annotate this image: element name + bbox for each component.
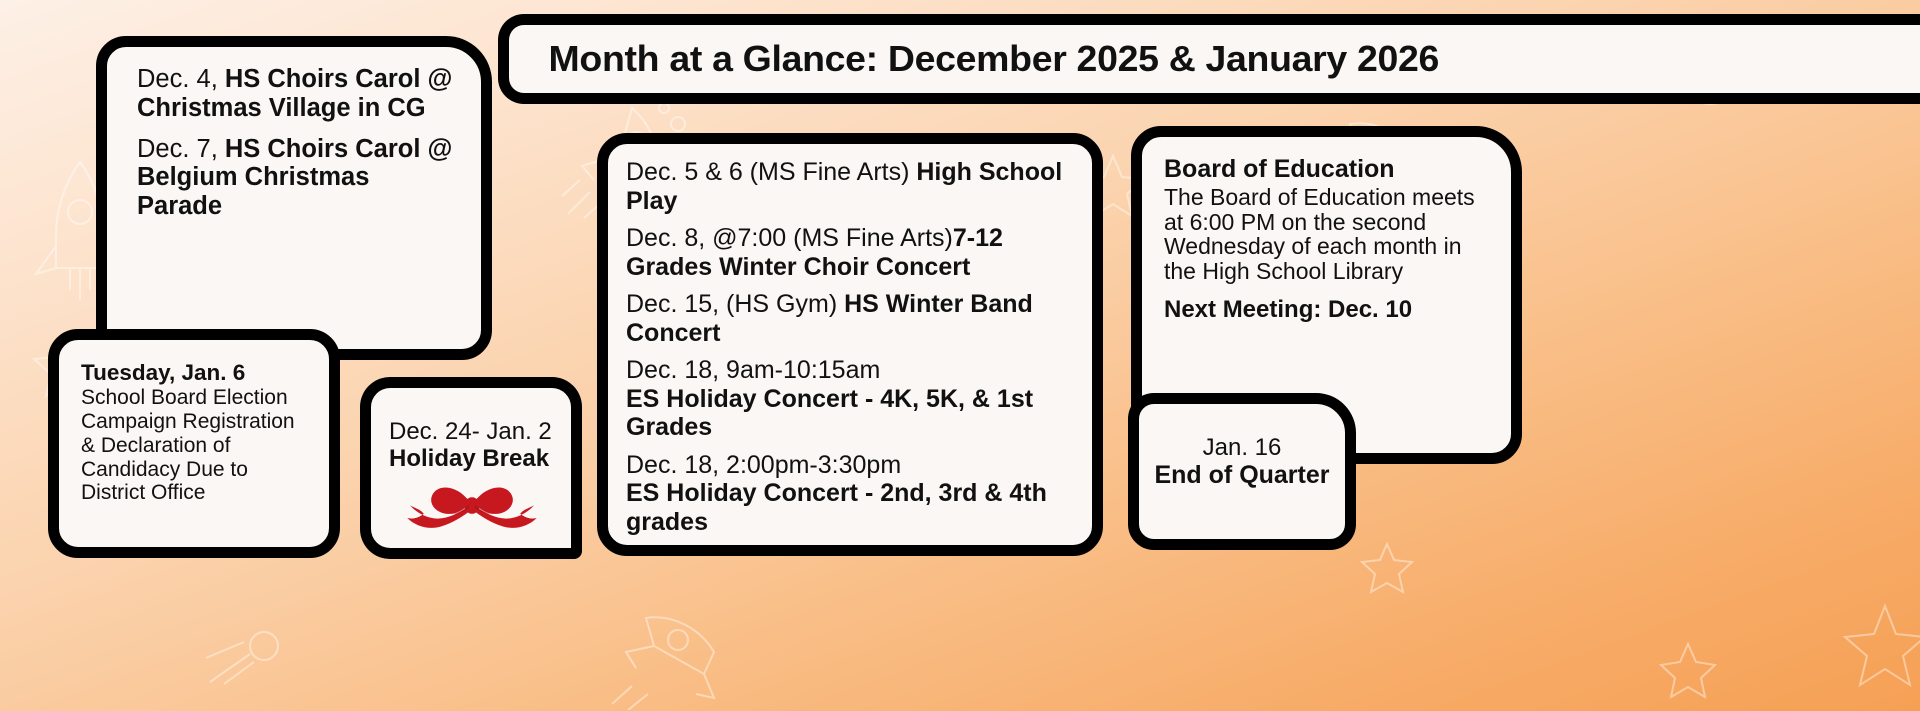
event-entry-4: Dec. 18, 9am-10:15amES Holiday Concert -…	[626, 356, 1076, 442]
choir-entry-1-date: Dec. 4,	[137, 65, 225, 93]
event-entry-5-event: ES Holiday Concert - 2nd, 3rd & 4th grad…	[626, 479, 1076, 536]
event-entry-2-date: Dec. 8, @7:00 (MS Fine Arts)	[626, 224, 953, 252]
boe-next-meeting: Next Meeting: Dec. 10	[1164, 296, 1491, 323]
event-entry-4-date: Dec. 18, 9am-10:15am	[626, 356, 1076, 385]
boe-heading: Board of Education	[1164, 155, 1491, 183]
choir-entry-2-date: Dec. 7,	[137, 135, 225, 163]
page-title: Month at a Glance: December 2025 & Janua…	[509, 39, 1439, 80]
star-doodle-icon	[1840, 600, 1920, 690]
election-body: School Board Election Campaign Registrat…	[81, 386, 311, 505]
star-doodle-icon	[1360, 540, 1415, 595]
hs-choirs-card: Dec. 4, HS Choirs Carol @ Christmas Vill…	[96, 36, 492, 360]
red-bow-icon	[401, 478, 543, 540]
boe-body: The Board of Education meets at 6:00 PM …	[1164, 185, 1491, 283]
poster-canvas: Month at a Glance: December 2025 & Janua…	[0, 0, 1920, 711]
event-entry-3: Dec. 15, (HS Gym) HS Winter Band Concert	[626, 290, 1076, 347]
event-entry-3-date: Dec. 15, (HS Gym)	[626, 290, 844, 318]
holiday-break-card: Dec. 24- Jan. 2 Holiday Break	[360, 377, 582, 559]
event-entry-4-event: ES Holiday Concert - 4K, 5K, & 1st Grade…	[626, 385, 1076, 442]
end-of-quarter-card: Jan. 16 End of Quarter	[1128, 393, 1356, 550]
holiday-break-label: Holiday Break	[389, 445, 555, 472]
comet-doodle-icon	[200, 620, 290, 690]
event-entry-5-date: Dec. 18, 2:00pm-3:30pm	[626, 451, 1076, 480]
quarter-date: Jan. 16	[1151, 434, 1333, 461]
event-entry-5: Dec. 18, 2:00pm-3:30pmES Holiday Concert…	[626, 451, 1076, 537]
holiday-break-date: Dec. 24- Jan. 2	[389, 418, 555, 445]
rocket-doodle-icon	[606, 600, 736, 710]
school-board-election-card: Tuesday, Jan. 6 School Board Election Ca…	[48, 329, 340, 558]
choir-entry-2: Dec. 7, HS Choirs Carol @ Belgium Christ…	[137, 135, 459, 221]
election-heading: Tuesday, Jan. 6	[81, 360, 311, 385]
quarter-label: End of Quarter	[1151, 461, 1333, 489]
fine-arts-events-card: Dec. 5 & 6 (MS Fine Arts) High School Pl…	[597, 133, 1103, 556]
event-entry-1-date: Dec. 5 & 6 (MS Fine Arts)	[626, 158, 916, 186]
choir-entry-1: Dec. 4, HS Choirs Carol @ Christmas Vill…	[137, 65, 459, 123]
header-banner: Month at a Glance: December 2025 & Janua…	[498, 14, 1920, 104]
event-entry-1: Dec. 5 & 6 (MS Fine Arts) High School Pl…	[626, 158, 1076, 215]
star-doodle-icon	[1658, 640, 1718, 700]
event-entry-2: Dec. 8, @7:00 (MS Fine Arts)7-12 Grades …	[626, 224, 1076, 281]
